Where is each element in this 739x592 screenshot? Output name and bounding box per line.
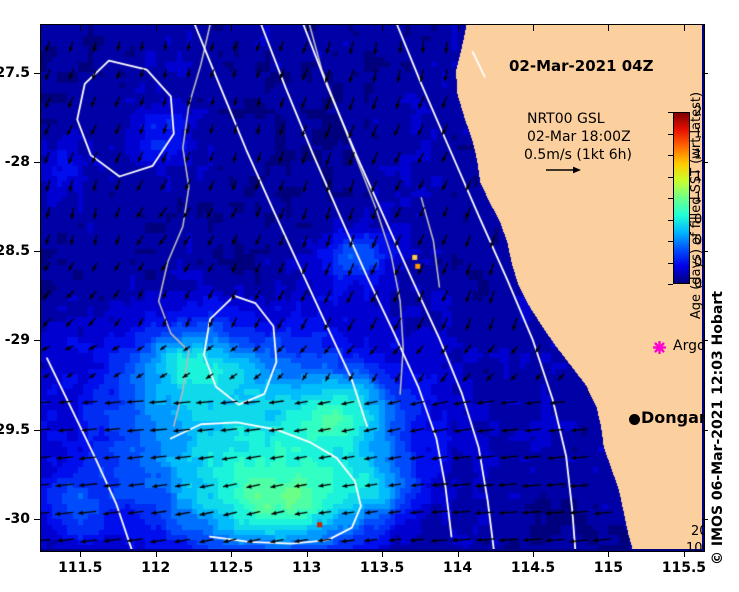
colorbar-tick [668,263,673,264]
colorbar-tick [668,198,673,199]
x-axis-tick [382,551,383,557]
y-axis-tick [34,519,40,520]
velocity-key-product: NRT00 GSL [527,111,605,127]
y-axis-tick [34,251,40,252]
y-axis-tick [34,430,40,431]
y-axis-label: -29 [5,332,30,348]
colorbar-tick [668,220,673,221]
x-axis-tick-top [231,25,232,31]
x-axis-label: 115 [594,560,623,576]
x-axis-label: 114 [443,560,472,576]
y-axis-tick [34,73,40,74]
bathymetry-legend-1000m: 1000m [686,541,705,552]
y-axis-label: -30 [5,511,30,527]
colorbar-tick [668,177,673,178]
x-axis-tick-top [382,25,383,31]
y-axis-tick-right [702,73,708,74]
x-axis-tick [684,551,685,557]
x-axis-label: 115.5 [662,560,706,576]
x-axis-tick-top [156,25,157,31]
x-axis-tick-top [307,25,308,31]
y-axis-tick-right [702,162,708,163]
x-axis-tick [80,551,81,557]
map-plot-area[interactable]: 02-Mar-2021 04Z NRT00 GSL 02-Mar 18:00Z … [40,24,705,552]
colorbar-gradient [674,113,689,283]
x-axis-label: 113 [292,560,321,576]
colorbar-tick [668,284,673,285]
map-date-title: 02-Mar-2021 04Z [509,57,654,75]
argo-legend-label: Argo [673,338,705,354]
x-axis-tick-top [608,25,609,31]
y-axis-label: -27.5 [0,65,30,81]
map-figure: 02-Mar-2021 04Z NRT00 GSL 02-Mar 18:00Z … [0,0,739,592]
y-axis-tick [34,340,40,341]
y-axis-tick-right [702,251,708,252]
x-axis-label: 111.5 [58,560,102,576]
x-axis-tick-top [533,25,534,31]
colorbar[interactable] [673,112,690,284]
x-axis-label: 114.5 [511,560,555,576]
velocity-key-timestamp: 02-Mar 18:00Z [527,129,631,145]
x-axis-tick [156,551,157,557]
dongara-location-dot [629,414,640,425]
colorbar-tick [668,112,673,113]
y-axis-tick [34,162,40,163]
x-axis-tick-top [80,25,81,31]
x-axis-label: 113.5 [360,560,404,576]
sst-age-raster-canvas[interactable] [41,25,702,549]
argo-float-marker-icon [653,341,666,354]
colorbar-tick [668,155,673,156]
y-axis-label: -29.5 [0,422,30,438]
colorbar-tick [668,134,673,135]
colorbar-tick [668,241,673,242]
y-axis-tick-right [702,430,708,431]
x-axis-label: 112 [141,560,170,576]
bathymetry-legend-200m: 200m [691,524,705,539]
x-axis-label: 112.5 [209,560,253,576]
y-axis-label: -28.5 [0,243,30,259]
x-axis-tick-top [684,25,685,31]
x-axis-tick [608,551,609,557]
x-axis-tick [307,551,308,557]
x-axis-tick-top [458,25,459,31]
velocity-scale-arrow-icon [545,165,581,175]
y-axis-tick-right [702,519,708,520]
dongara-label: Dongara [641,408,705,427]
y-axis-label: -28 [5,154,30,170]
x-axis-tick [533,551,534,557]
y-axis-tick-right [702,340,708,341]
x-axis-tick [458,551,459,557]
colorbar-axis-title: Age (days) of filled SST (wrt latest) [689,92,704,319]
x-axis-tick [231,551,232,557]
imos-credit-text: © IMOS 06-Mar-2021 12:03 Hobart [710,291,726,565]
velocity-key-magnitude: 0.5m/s (1kt 6h) [524,147,632,163]
